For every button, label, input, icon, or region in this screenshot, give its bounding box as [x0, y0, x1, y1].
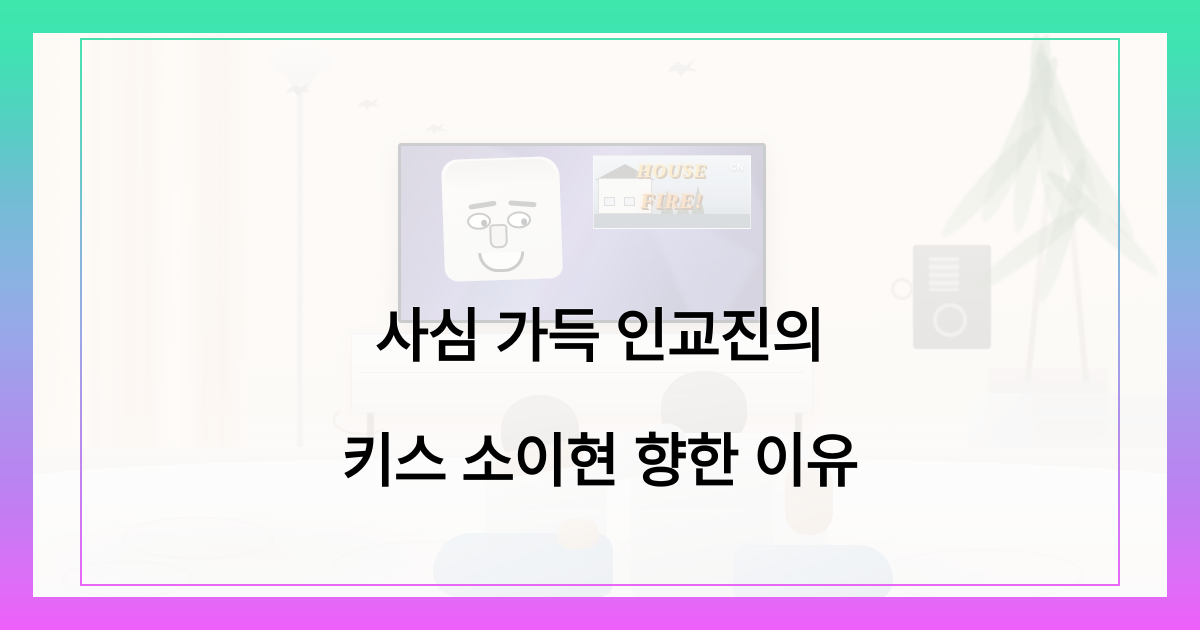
- flat-screen-tv: HOUSE FIRE! CN: [398, 143, 766, 323]
- banner-title-line1: HOUSE: [594, 162, 750, 181]
- thumbnail-card: HOUSE FIRE! CN: [0, 0, 1200, 630]
- cartoon-pupil: [521, 218, 527, 225]
- cartoon-pupil: [481, 220, 487, 227]
- cartoon-eye: [467, 212, 492, 230]
- banner-ground: [594, 214, 750, 228]
- console-leg: [795, 413, 802, 439]
- console-seam: [360, 372, 804, 373]
- rug-pattern: [63, 561, 193, 597]
- person-legs: [733, 545, 893, 597]
- tv-screen: HOUSE FIRE! CN: [401, 146, 763, 320]
- rug-pattern: [883, 549, 1083, 597]
- speaker-grill: [929, 257, 959, 291]
- person-arm-skin: [785, 461, 833, 535]
- background-photo: HOUSE FIRE! CN: [33, 33, 1167, 597]
- banner-title-line2: FIRE!: [594, 191, 750, 212]
- speaker-knob: [891, 278, 913, 300]
- person-hand: [557, 519, 599, 549]
- banner-title: HOUSE FIRE!: [594, 162, 750, 212]
- speaker-woofer: [933, 303, 967, 337]
- cartoon-hair: [445, 158, 556, 192]
- cartoon-eyebrow: [508, 200, 536, 207]
- cartoon-eye: [507, 211, 532, 229]
- cartoon-mouth: [478, 251, 525, 273]
- power-cable: [333, 405, 391, 435]
- speaker: [913, 245, 991, 349]
- cartoon-eyebrow: [468, 201, 496, 210]
- floor-lamp-pole: [297, 91, 303, 491]
- network-logo: CN: [730, 162, 744, 172]
- tv-show-banner: HOUSE FIRE! CN: [593, 155, 751, 229]
- cartoon-nose: [489, 224, 508, 249]
- cartoon-character-face: [441, 156, 563, 282]
- rug-pattern: [123, 517, 273, 559]
